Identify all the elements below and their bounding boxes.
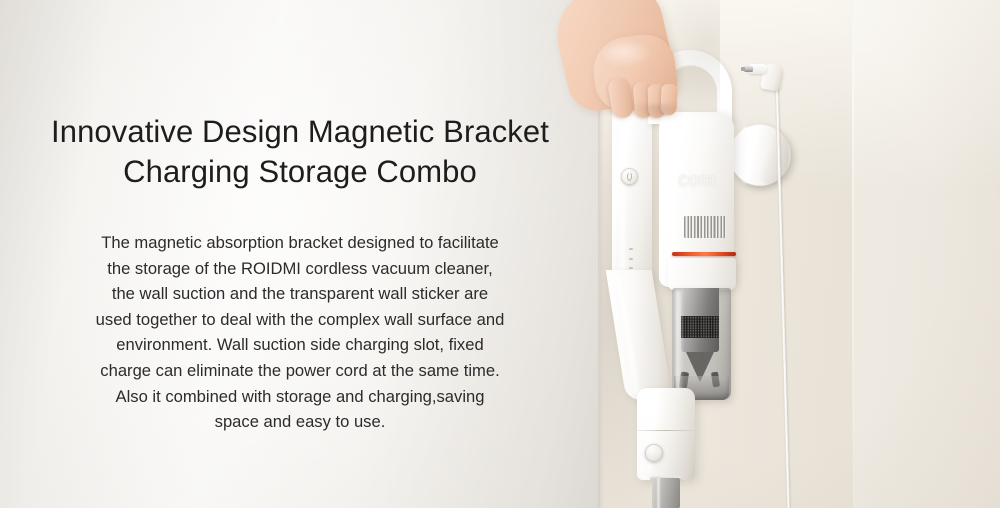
description-line: charge can eliminate the power cord at t… <box>36 358 564 384</box>
led-dot <box>629 258 633 260</box>
charging-plug-pin-tip <box>741 67 745 71</box>
wall-mount-rim <box>753 125 789 185</box>
description-line: space and easy to use. <box>36 409 564 435</box>
headline-line-2: Charging Storage Combo <box>0 152 600 192</box>
description-line: Also it combined with storage and chargi… <box>36 384 564 410</box>
headline-line-1: Innovative Design Magnetic Bracket <box>51 114 549 149</box>
description-paragraph: The magnetic absorption bracket designed… <box>0 230 600 435</box>
description-line: the wall suction and the transparent wal… <box>36 281 564 307</box>
led-dot <box>629 267 633 269</box>
red-accent-ring <box>672 252 736 256</box>
transparent-dust-bin <box>672 288 731 400</box>
product-feature-banner: Innovative Design Magnetic Bracket Charg… <box>0 0 1000 508</box>
description-line: environment. Wall suction side charging … <box>36 332 564 358</box>
dust-bin-release-button <box>645 444 663 462</box>
vacuum-lower-body-highlight <box>644 394 654 474</box>
dust-bin-glass-highlight <box>676 290 684 398</box>
description-line: the storage of the ROIDMI cordless vacuu… <box>36 256 564 282</box>
power-button <box>621 168 638 185</box>
extension-tube-highlight <box>656 478 661 508</box>
page-title: Innovative Design Magnetic Bracket Charg… <box>0 112 600 192</box>
vacuum-lower-seam <box>637 430 695 431</box>
motor-exhaust-vent <box>684 216 726 238</box>
magnetic-wall-suction-mount <box>729 124 791 186</box>
cyclone-mesh-screen <box>681 316 719 338</box>
knuckle-highlight <box>604 42 652 68</box>
power-icon <box>627 172 632 181</box>
wall-mount-highlight <box>737 127 754 183</box>
description-line: The magnetic absorption bracket designed… <box>36 230 564 256</box>
wall-side-panel <box>853 0 1000 508</box>
description-line: used together to deal with the complex w… <box>36 307 564 333</box>
finger-shadow <box>630 104 686 122</box>
charging-plug-pin <box>744 66 753 72</box>
dust-bin-collar <box>668 258 736 290</box>
image-watermark: com <box>664 152 730 210</box>
led-dot <box>629 248 633 250</box>
copy-block: Innovative Design Magnetic Bracket Charg… <box>0 112 600 435</box>
